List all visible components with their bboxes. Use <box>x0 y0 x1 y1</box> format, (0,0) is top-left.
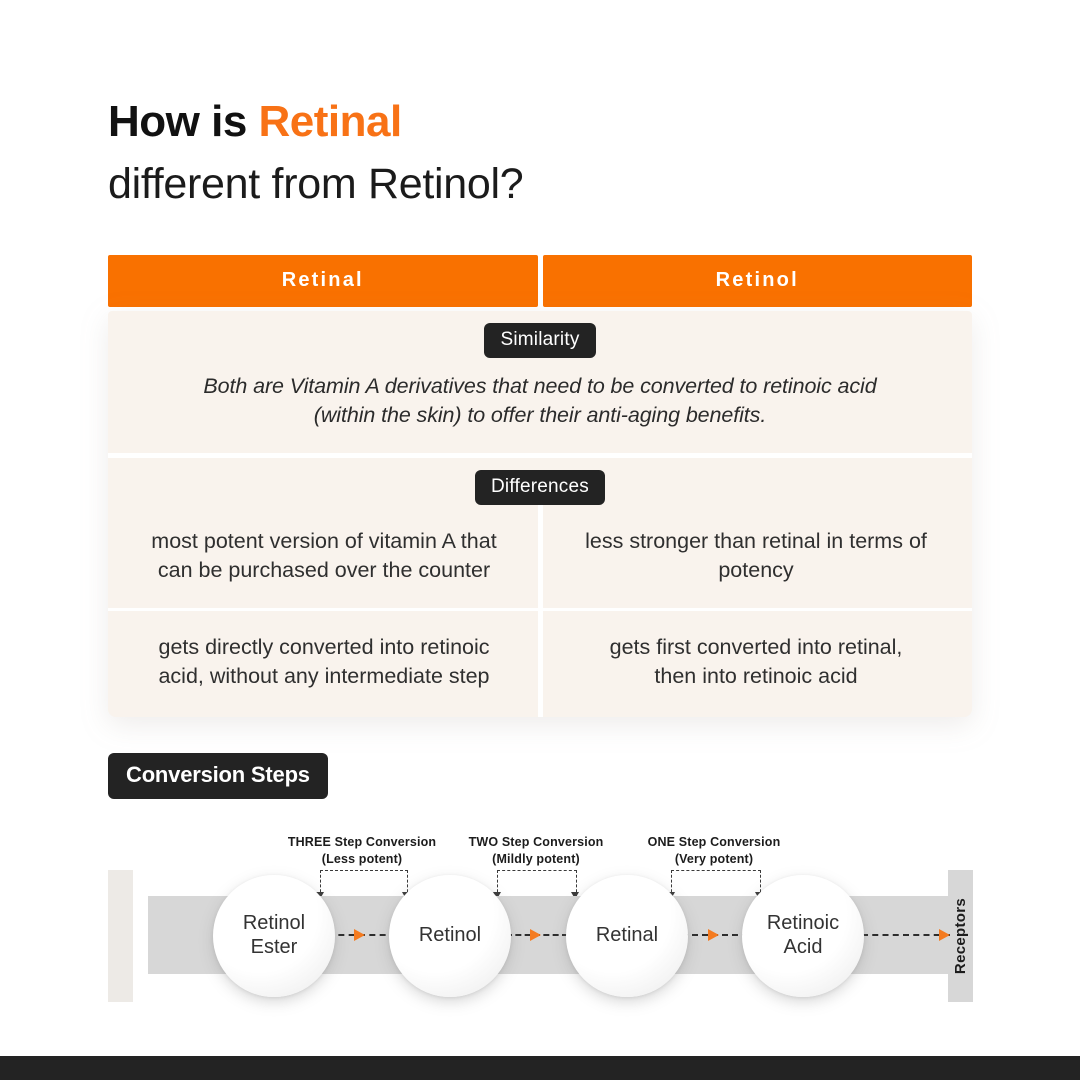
node-retinoic-acid: Retinoic Acid <box>742 875 864 997</box>
cell-retinal-potency: most potent version of vitamin A that ca… <box>108 505 540 608</box>
title-line-1: How is Retinal <box>108 100 968 144</box>
page-title: How is Retinal different from Retinol? <box>108 100 968 206</box>
table-body: Similarity Both are Vitamin A derivative… <box>108 311 972 717</box>
conversion-steps-badge: Conversion Steps <box>108 753 328 799</box>
table-row: gets directly converted into retinoic ac… <box>108 611 972 716</box>
arrow-icon <box>530 929 541 941</box>
similarity-section: Similarity Both are Vitamin A derivative… <box>108 311 972 453</box>
title-prefix: How is <box>108 97 259 146</box>
footer-bar <box>0 1056 1080 1080</box>
step-label-three: THREE Step Conversion (Less potent) <box>272 834 452 867</box>
comparison-table: Retinal Retinol Similarity Both are Vita… <box>108 255 972 717</box>
table-header-row: Retinal Retinol <box>108 255 972 307</box>
title-line-2: different from Retinol? <box>108 163 968 206</box>
differences-badge-row: Differences <box>108 458 972 505</box>
bracket-three-step <box>320 870 408 897</box>
cell-retinol-potency: less stronger than retinal in terms of p… <box>540 505 972 608</box>
connector-2 <box>506 927 568 943</box>
connector-3 <box>682 927 748 943</box>
differences-section: Differences most potent version of vitam… <box>108 458 972 716</box>
connector-4 <box>862 927 950 943</box>
similarity-text: Both are Vitamin A derivatives that need… <box>108 358 972 453</box>
column-header-retinal: Retinal <box>108 255 538 307</box>
arrow-icon <box>708 929 719 941</box>
table-row: most potent version of vitamin A that ca… <box>108 505 972 608</box>
cell-retinol-conversion: gets first converted into retinal, then … <box>540 611 972 716</box>
cell-retinal-conversion: gets directly converted into retinoic ac… <box>108 611 540 716</box>
differences-rows: most potent version of vitamin A that ca… <box>108 505 972 716</box>
bracket-one-step <box>671 870 761 897</box>
step-label-one: ONE Step Conversion (Very potent) <box>626 834 802 867</box>
left-edge-bar <box>108 870 133 1002</box>
similarity-badge-row: Similarity <box>108 311 972 358</box>
connector-1 <box>328 927 396 943</box>
step-label-two: TWO Step Conversion (Mildly potent) <box>448 834 624 867</box>
column-header-retinol: Retinol <box>543 255 973 307</box>
differences-badge: Differences <box>475 470 605 505</box>
node-retinol-ester: Retinol Ester <box>213 875 335 997</box>
conversion-diagram: THREE Step Conversion (Less potent) TWO … <box>0 826 1080 1016</box>
node-retinol: Retinol <box>389 875 511 997</box>
arrow-icon <box>939 929 950 941</box>
similarity-badge: Similarity <box>484 323 595 358</box>
infographic-page: How is Retinal different from Retinol? R… <box>0 0 1080 1080</box>
arrow-icon <box>354 929 365 941</box>
receptors-label: Receptors <box>948 870 973 1002</box>
bracket-two-step <box>497 870 577 897</box>
row-divider <box>108 608 972 611</box>
node-retinal: Retinal <box>566 875 688 997</box>
title-highlight: Retinal <box>259 97 402 146</box>
